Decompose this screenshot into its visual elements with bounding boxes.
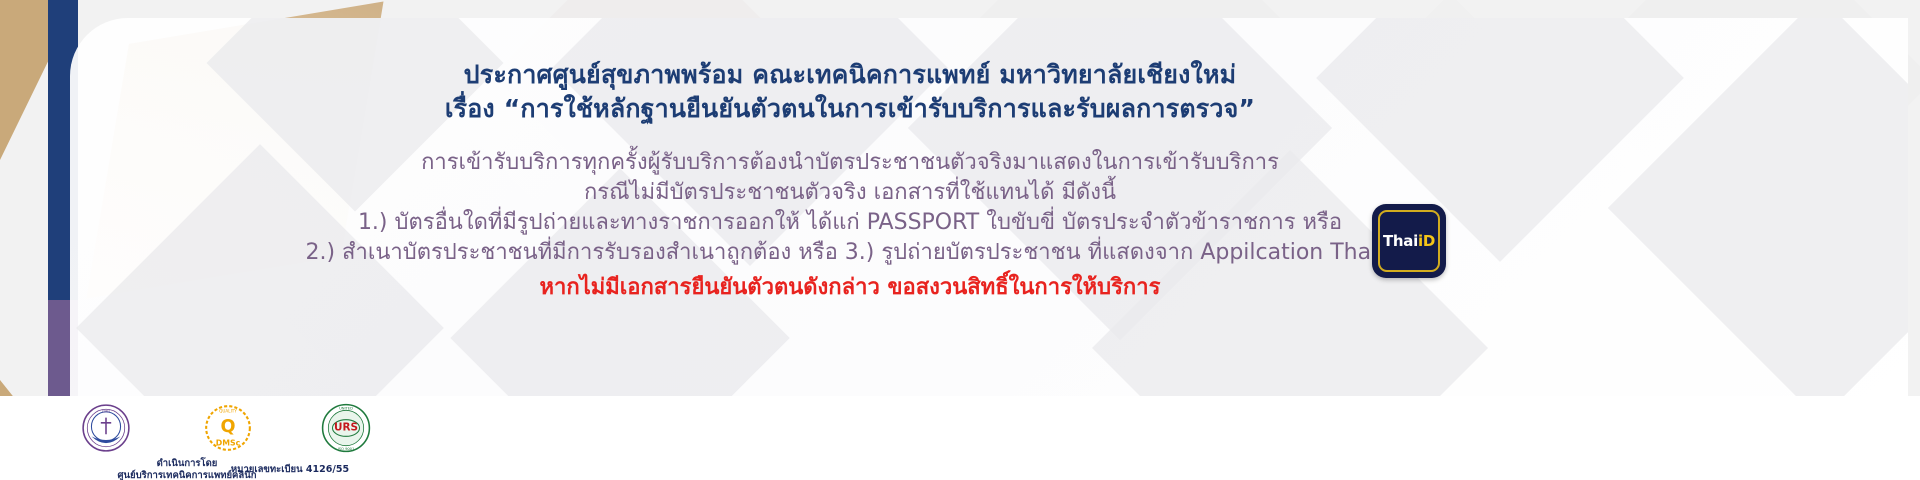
svg-text:URS: URS bbox=[334, 422, 358, 434]
body-line-1: การเข้ารับบริการทุกครั้งผู้รับบริการต้อง… bbox=[70, 148, 1630, 178]
accreditation-logos: CMU Q DMSc QUALITY URS UNITED ISO 9001 ด… bbox=[62, 396, 362, 480]
svg-text:ISO 9001: ISO 9001 bbox=[338, 447, 355, 451]
svg-text:Q: Q bbox=[220, 417, 235, 437]
thaid-label-thai: Thai bbox=[1383, 232, 1418, 250]
svg-text:CMU: CMU bbox=[102, 409, 111, 413]
svg-text:QUALITY: QUALITY bbox=[219, 408, 237, 413]
dmsc-quality-assurance-seal-icon: Q DMSc QUALITY bbox=[202, 402, 254, 454]
thaid-app-icon: ThaiiD bbox=[1372, 204, 1446, 278]
thaid-label-id: iD bbox=[1418, 232, 1435, 250]
svg-text:UNITED: UNITED bbox=[339, 406, 353, 410]
announcement-banner: ประกาศศูนย์สุขภาพพร้อม คณะเทคนิคการแพทย์… bbox=[0, 0, 1920, 480]
svg-text:DMSc: DMSc bbox=[216, 439, 241, 448]
heading-line-2: เรื่อง “การใช้หลักฐานยืนยันตัวตนในการเข้… bbox=[70, 92, 1630, 126]
mednet-clinic-seal-icon: CMU bbox=[80, 402, 132, 454]
content-card: ประกาศศูนย์สุขภาพพร้อม คณะเทคนิคการแพทย์… bbox=[70, 18, 1908, 396]
announcement-heading: ประกาศศูนย์สุขภาพพร้อม คณะเทคนิคการแพทย์… bbox=[70, 58, 1630, 126]
thaid-icon-label: ThaiiD bbox=[1383, 232, 1435, 250]
bottom-strip: CMU Q DMSc QUALITY URS UNITED ISO 9001 ด… bbox=[0, 396, 1920, 480]
urs-iso-9001-seal-icon: URS UNITED ISO 9001 bbox=[320, 402, 372, 454]
announcement-content: ประกาศศูนย์สุขภาพพร้อม คณะเทคนิคการแพทย์… bbox=[70, 18, 1908, 396]
heading-line-1: ประกาศศูนย์สุขภาพพร้อม คณะเทคนิคการแพทย์… bbox=[70, 58, 1630, 92]
registration-number-caption: หมายเลขทะเบียน 4126/55 bbox=[210, 464, 370, 476]
